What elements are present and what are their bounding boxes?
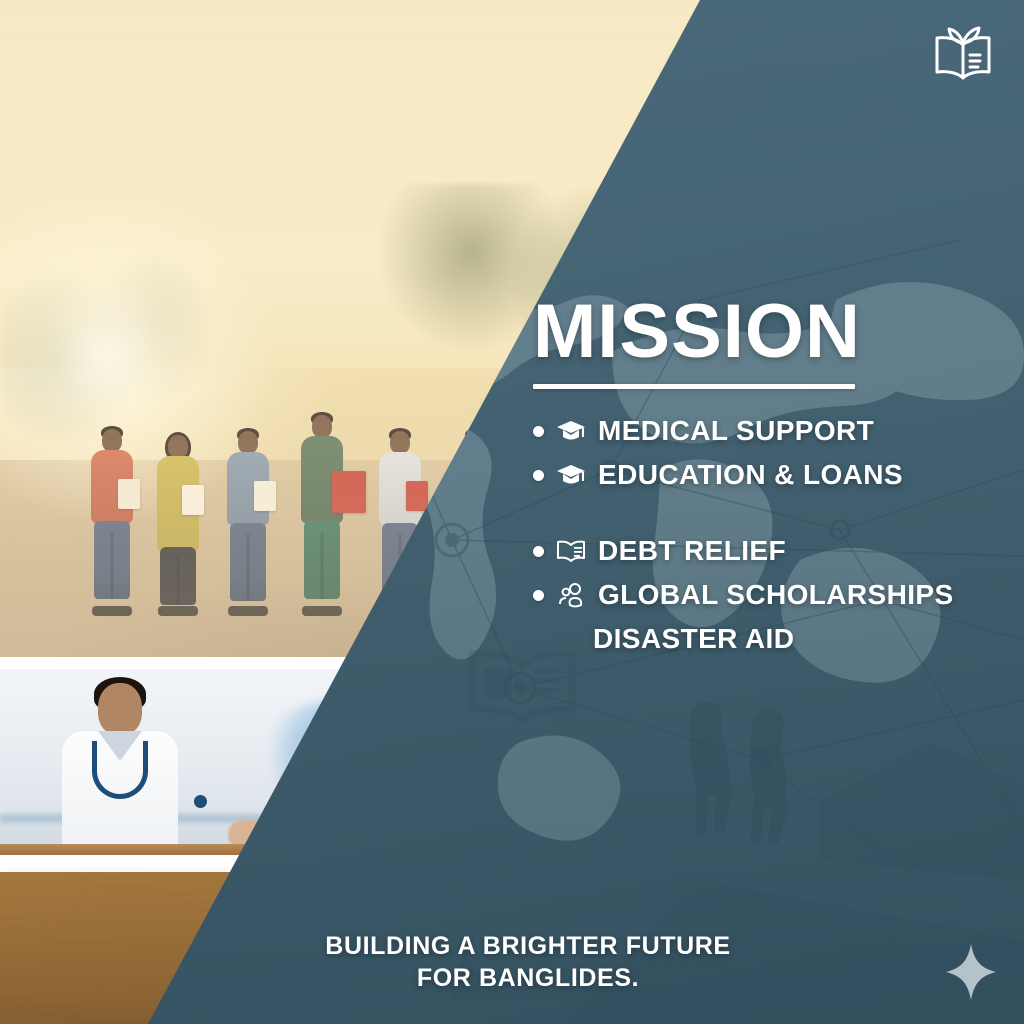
globe-people-icon (554, 581, 588, 609)
mission-item-label: EDUCATION & LOANS (598, 459, 903, 491)
mission-list: MEDICAL SUPPORT EDUCATION & LOANS (533, 415, 1003, 655)
open-book-with-sprout-icon (930, 22, 996, 84)
open-book-icon (554, 537, 588, 565)
graduation-cap-icon (554, 417, 588, 445)
mission-block: MISSION MEDICAL SUPPORT (533, 296, 1003, 667)
graduation-cap-icon (554, 461, 588, 489)
mission-item-disaster-aid: DISASTER AID (533, 623, 1003, 655)
mission-item-global-scholarships: GLOBAL SCHOLARSHIPS (533, 579, 1003, 611)
mission-item-debt-relief: DEBT RELIEF (533, 535, 1003, 567)
tagline-line-1: BUILDING A BRIGHTER FUTURE (148, 930, 908, 962)
mission-item-education-loans: EDUCATION & LOANS (533, 459, 1003, 491)
title-underline (533, 384, 855, 389)
mission-poster: MISSION MEDICAL SUPPORT (0, 0, 1024, 1024)
mission-item-medical-support: MEDICAL SUPPORT (533, 415, 1003, 447)
mission-item-label: DEBT RELIEF (598, 535, 786, 567)
mission-item-label: MEDICAL SUPPORT (598, 415, 874, 447)
bullet-dot (533, 590, 544, 601)
four-point-sparkle-icon (944, 942, 998, 1002)
bullet-dot (533, 546, 544, 557)
tagline: BUILDING A BRIGHTER FUTURE FOR BANGLIDES… (148, 930, 908, 994)
mission-item-label: DISASTER AID (593, 623, 794, 655)
mission-item-label: GLOBAL SCHOLARSHIPS (598, 579, 954, 611)
poster-content: MISSION MEDICAL SUPPORT (0, 0, 1024, 1024)
bullet-dot (533, 470, 544, 481)
tagline-line-2: FOR BANGLIDES. (148, 962, 908, 994)
bullet-dot (533, 426, 544, 437)
page-title: MISSION (533, 296, 1003, 368)
